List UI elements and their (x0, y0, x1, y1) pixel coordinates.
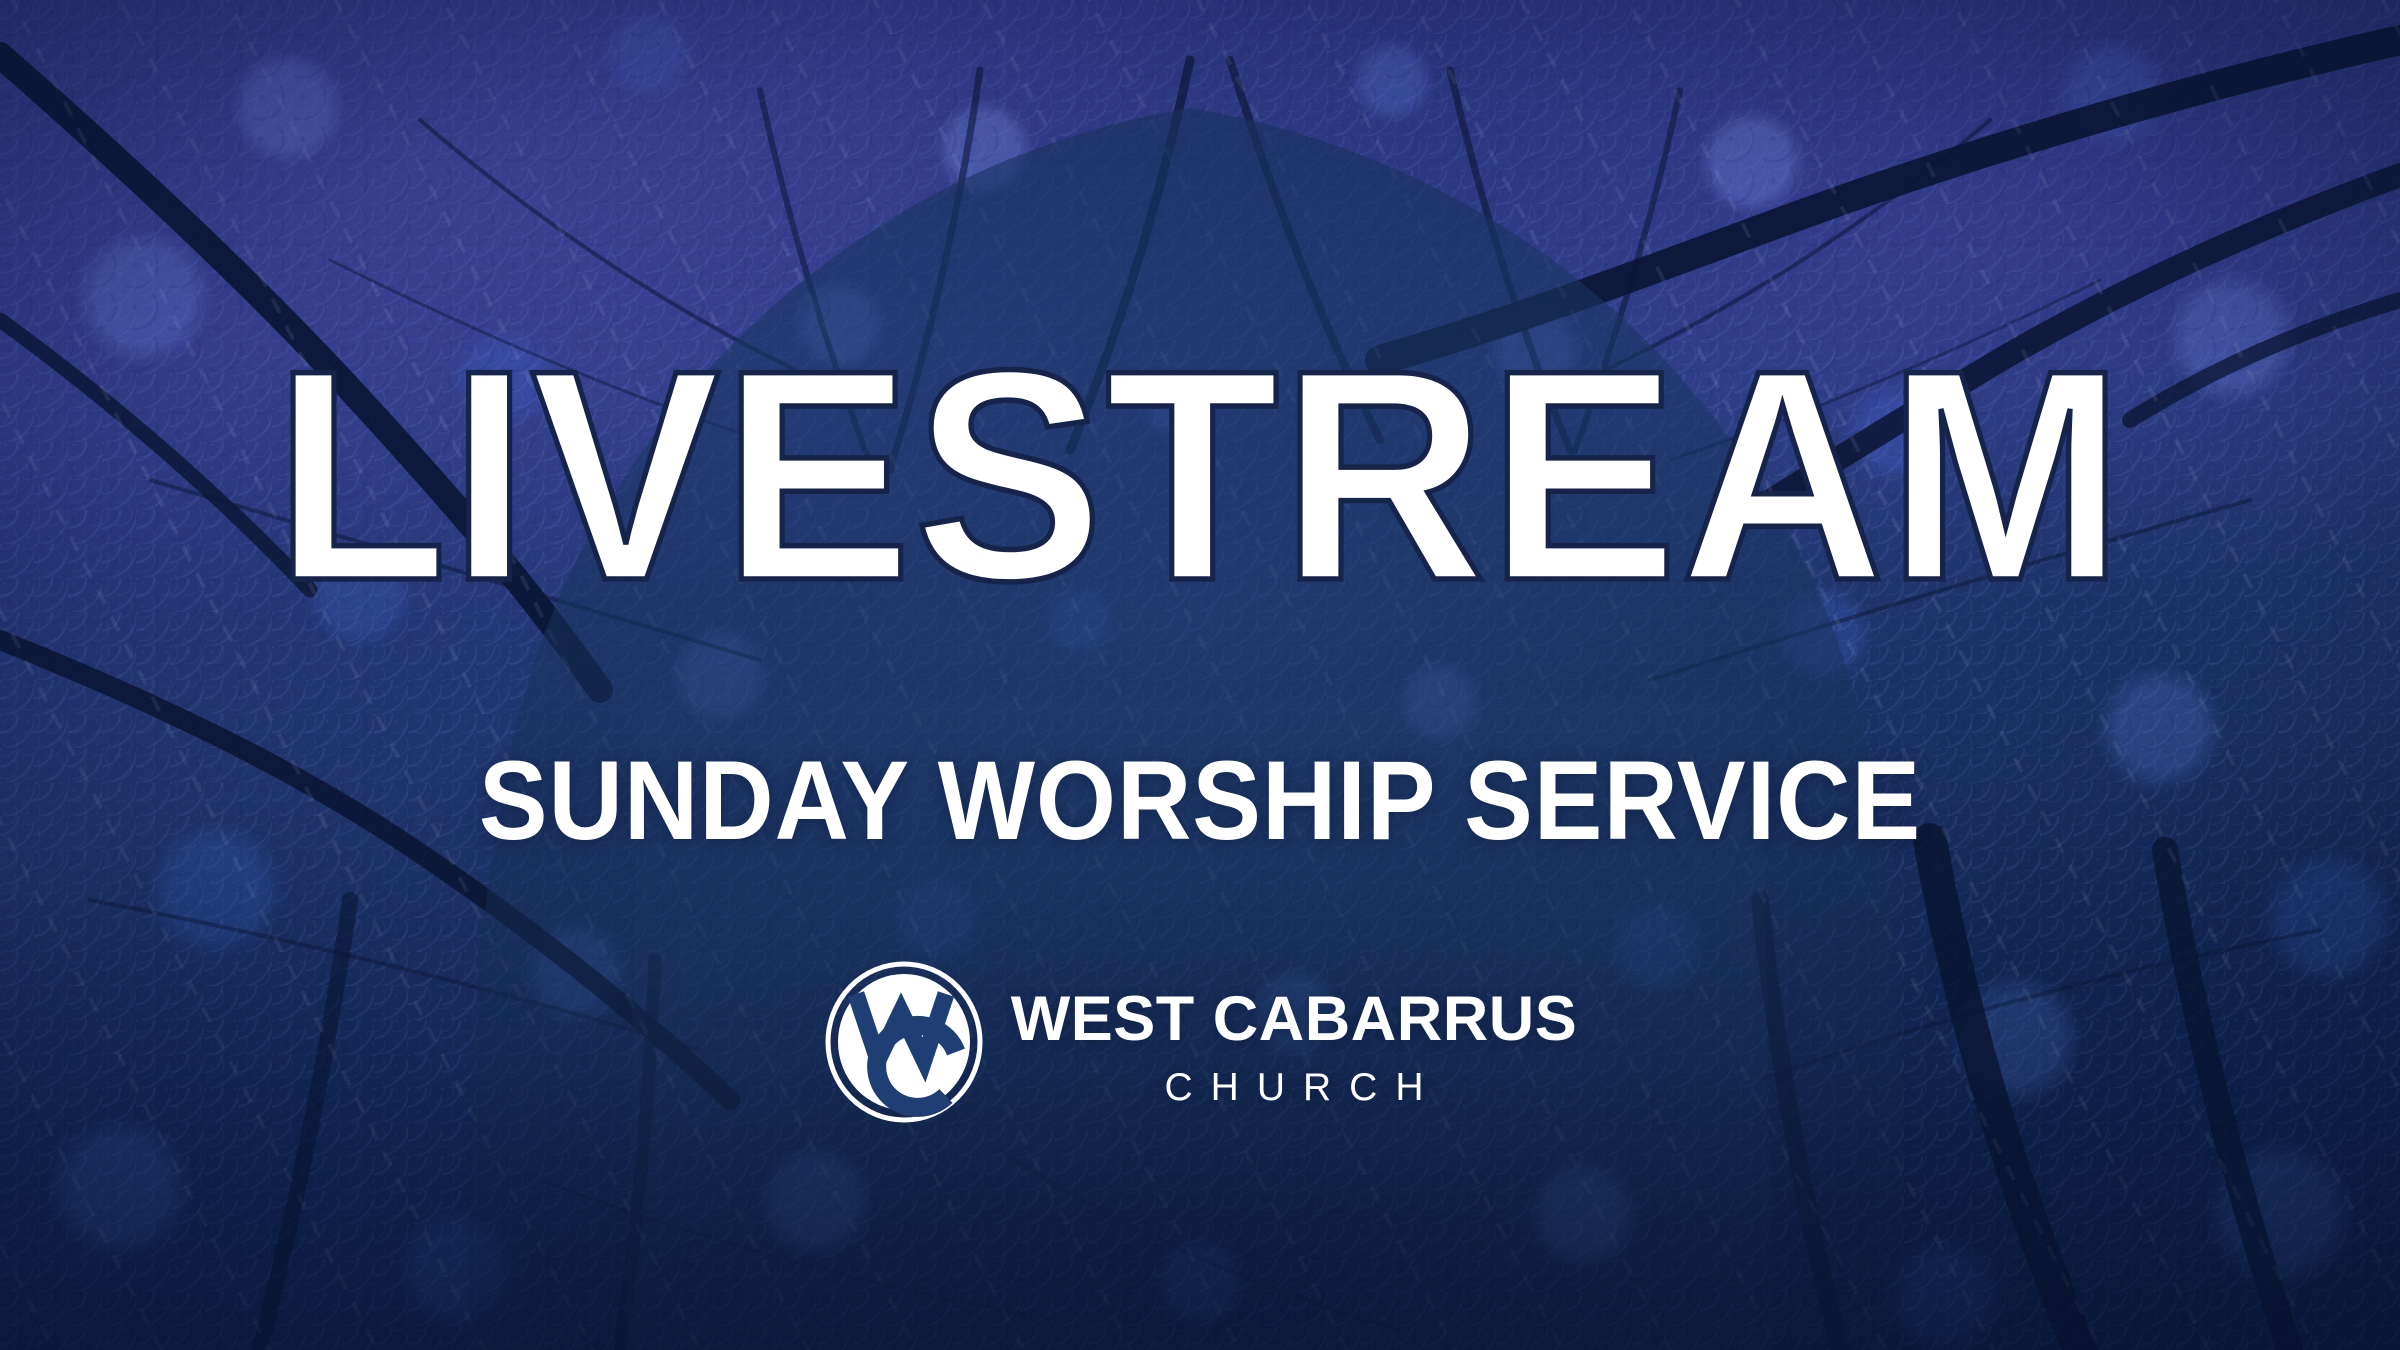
page-title-inline-stroke: LIVESTREAM (274, 307, 2126, 643)
title-card-content: LIVESTREAM LIVESTREAM SUNDAY WORSHIP SER… (0, 0, 2400, 1350)
logo-name: WEST CABARRUS (1011, 988, 1578, 1051)
logo-lockup: WEST CABARRUS CHURCH (0, 960, 2400, 1130)
subtitle: SUNDAY WORSHIP SERVICE (96, 745, 2304, 857)
wc-monogram-icon (823, 960, 985, 1130)
logo-descriptor: CHURCH (1165, 1068, 1442, 1107)
livestream-title-card: LIVESTREAM LIVESTREAM SUNDAY WORSHIP SER… (0, 0, 2400, 1350)
logo-wordmark: WEST CABARRUS CHURCH (1011, 984, 1578, 1107)
headline-block: LIVESTREAM LIVESTREAM (0, 360, 2400, 630)
